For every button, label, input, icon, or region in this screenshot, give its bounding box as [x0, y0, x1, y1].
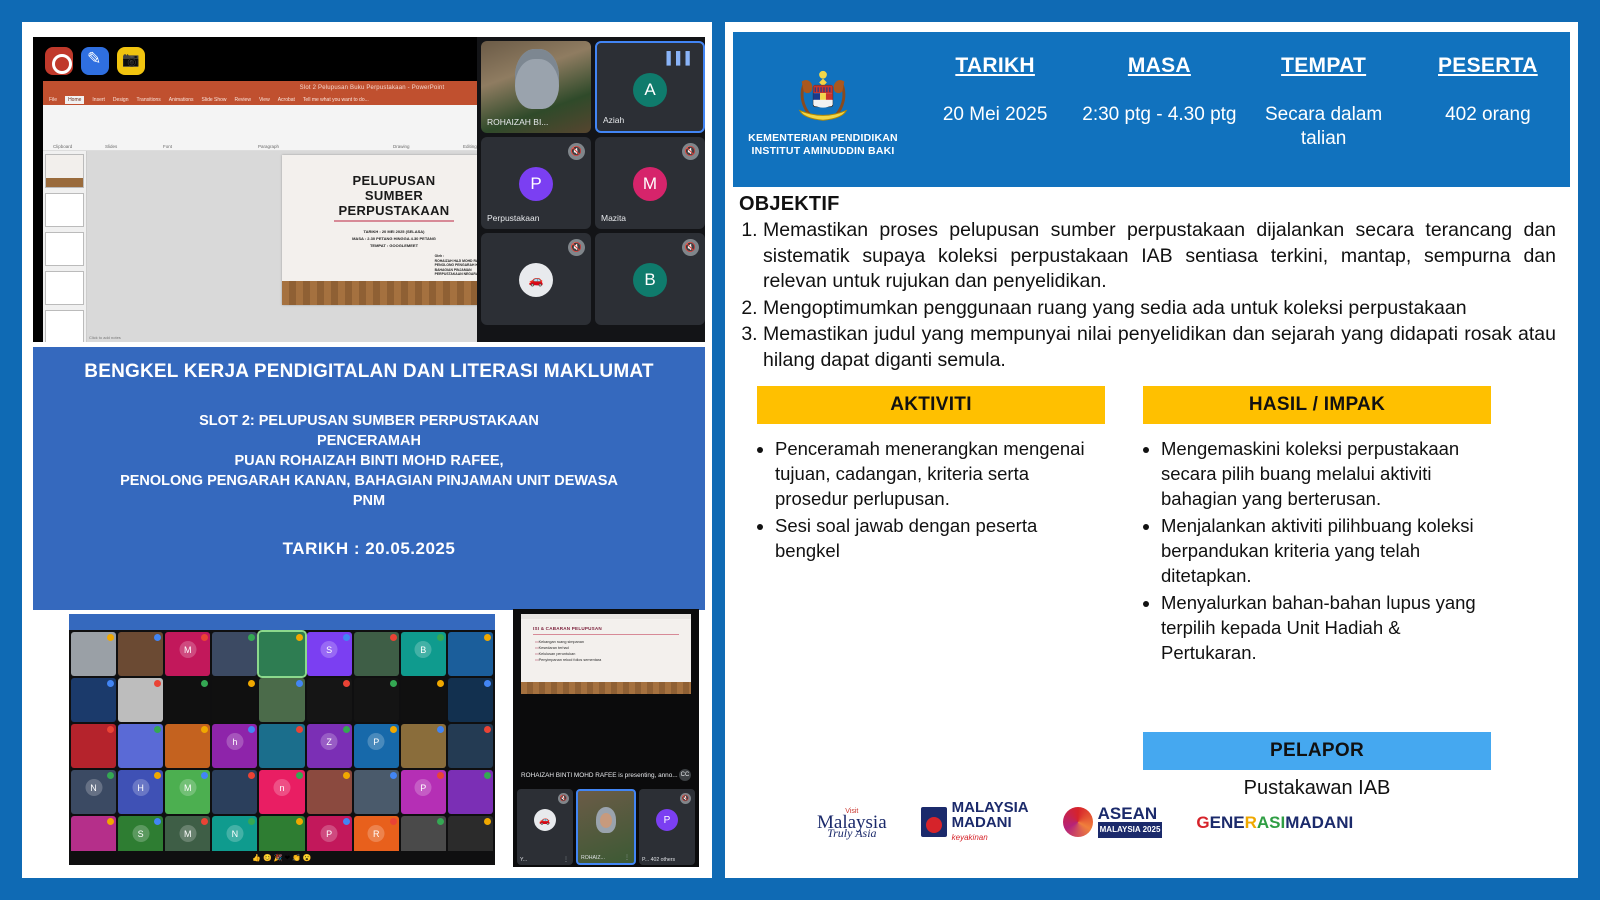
slide-thumbnail[interactable]: 4: [45, 271, 84, 305]
mic-status-icon: [248, 818, 255, 825]
mic-off-icon: 🔇: [682, 239, 699, 256]
participant-tile[interactable]: H: [118, 770, 163, 814]
header-col-tarikh: TARIKH 20 Mei 2025: [913, 32, 1077, 187]
reaction-bar: 👍 😊 🎉 ❤ 👏 😮: [69, 851, 495, 865]
current-slide: PELUPUSAN SUMBER PERPUSTAKAAN TARIKH : 2…: [282, 155, 507, 305]
hasil-caption: HASIL / IMPAK: [1143, 386, 1491, 424]
ministry-block: KEMENTERIAN PENDIDIKAN INSTITUT AMINUDDI…: [733, 32, 913, 187]
ribbon-group-font: Font: [163, 144, 172, 149]
mic-status-icon: [437, 818, 444, 825]
avatar: H: [132, 779, 149, 796]
avatar: P: [656, 809, 678, 831]
objektif-section: OBJEKTIF Memastikan proses pelupusan sum…: [725, 187, 1578, 373]
mic-status-icon: [296, 772, 303, 779]
hasil-item: Menyalurkan bahan-bahan lupus yang terpi…: [1161, 590, 1491, 665]
mic-status-icon: [201, 772, 208, 779]
ministry-name: KEMENTERIAN PENDIDIKAN INSTITUT AMINUDDI…: [748, 132, 898, 158]
mic-status-icon: [296, 726, 303, 733]
mic-status-icon: [437, 726, 444, 733]
aktiviti-list: Penceramah menerangkan mengenai tujuan, …: [775, 436, 1105, 563]
mini-tile-label: P... 402 others: [642, 857, 675, 863]
mini-tile-rohaizah[interactable]: ROHAIZ... ⋮: [576, 789, 636, 865]
avatar: [596, 807, 616, 833]
mic-off-icon: 🔇: [558, 793, 569, 804]
participant-tile[interactable]: [354, 632, 399, 676]
participant-tile[interactable]: [448, 632, 493, 676]
malaysia-coat-of-arms-icon: [792, 66, 854, 128]
mic-status-icon: [390, 680, 397, 687]
meet-presenting-screenshot: ISI & CABARAN PELUPUSAN Kekangan ruang s…: [513, 597, 699, 867]
participant-tile[interactable]: [165, 678, 210, 722]
tab-review[interactable]: Review: [235, 97, 251, 103]
slide-thumbnail[interactable]: 3: [45, 232, 84, 266]
participant-tile[interactable]: [448, 724, 493, 768]
shared-slide: ISI & CABARAN PELUPUSAN Kekangan ruang s…: [521, 614, 691, 694]
mic-status-icon: [248, 680, 255, 687]
participant-tile[interactable]: M: [165, 632, 210, 676]
mic-status-icon: [154, 772, 161, 779]
mic-status-icon: [107, 818, 114, 825]
avatar: M: [633, 167, 667, 201]
mic-status-icon: [107, 726, 114, 733]
ribbon-group-paragraph: Paragraph: [258, 144, 279, 149]
mic-status-icon: [484, 772, 491, 779]
mic-status-icon: [343, 726, 350, 733]
avatar: Z: [321, 733, 338, 750]
mic-status-icon: [201, 726, 208, 733]
tab-transitions[interactable]: Transitions: [137, 97, 161, 103]
mic-status-icon: [343, 634, 350, 641]
meet-tile-aziah[interactable]: ▌▌▌ A Aziah: [595, 41, 705, 133]
powerpoint-presentation-screenshot: 📌 🔇 Slot 2 Pelupusan Buku Perpustakaan -…: [33, 37, 705, 342]
participant-tile[interactable]: [448, 678, 493, 722]
slide-title: PELUPUSAN SUMBER PERPUSTAKAAN: [282, 155, 507, 218]
mic-status-icon: [107, 680, 114, 687]
avatar: P: [519, 167, 553, 201]
meet-tile-mazita[interactable]: 🔇 M Mazita: [595, 137, 705, 229]
slide-thumbnail[interactable]: 5: [45, 310, 84, 342]
participant-tile[interactable]: [71, 724, 116, 768]
participant-tile[interactable]: [259, 724, 304, 768]
header-value: 402 orang: [1445, 103, 1531, 127]
participant-grid[interactable]: MSBhZPNHMnPSMNPR: [69, 630, 495, 862]
ribbon-group-editing: Editing: [463, 144, 477, 149]
pelapor-caption: PELAPOR: [1143, 732, 1491, 770]
mic-status-icon: [154, 680, 161, 687]
aktiviti-item: Penceramah menerangkan mengenai tujuan, …: [775, 436, 1105, 511]
avatar: M: [179, 825, 196, 842]
shared-slide-bullets: Kekangan ruang simpananKesedaran terhadK…: [535, 639, 691, 663]
mic-status-icon: [484, 634, 491, 641]
visit-malaysia-2026-logo: Visit Malaysia Truly Asia: [817, 798, 887, 846]
mic-status-icon: [437, 772, 444, 779]
avatar: N: [226, 825, 243, 842]
slide-meta: TARIKH : 20 MEI 2025 (SELASA) MASA : 2.3…: [282, 228, 507, 249]
participant-tile[interactable]: S: [307, 632, 352, 676]
slide-thumbnail[interactable]: 1: [45, 154, 84, 188]
objektif-item: Mengoptimumkan penggunaan ruang yang sed…: [763, 296, 1556, 322]
mic-status-icon: [201, 818, 208, 825]
banner-date: TARIKH : 20.05.2025: [43, 539, 695, 559]
header-col-masa: MASA 2:30 ptg - 4.30 ptg: [1077, 32, 1241, 187]
shared-slide-title: ISI & CABARAN PELUPUSAN: [533, 626, 691, 631]
objektif-item: Memastikan proses pelupusan sumber perpu…: [763, 218, 1556, 295]
meet-tile-label: Aziah: [603, 115, 624, 125]
header-col-tempat: TEMPAT Secara dalam talian: [1242, 32, 1406, 187]
participant-tile[interactable]: [212, 632, 257, 676]
slide-wood-decoration: [282, 281, 507, 305]
avatar: 🚗: [519, 263, 553, 297]
mic-status-icon: [201, 680, 208, 687]
avatar: P: [368, 733, 385, 750]
header-col-peserta: PESERTA 402 orang: [1406, 32, 1570, 187]
participant-tile[interactable]: n: [259, 770, 304, 814]
more-options-icon[interactable]: ⋮: [624, 854, 630, 861]
header-label: TEMPAT: [1281, 54, 1366, 78]
mic-status-icon: [248, 634, 255, 641]
mini-tile-label: Y...: [520, 857, 527, 863]
mic-status-icon: [154, 818, 161, 825]
ribbon-group-slides: Slides: [105, 144, 117, 149]
mic-off-icon: 🔇: [568, 239, 585, 256]
notes-placeholder[interactable]: Click to add notes: [89, 335, 121, 340]
participant-tile[interactable]: [118, 678, 163, 722]
mic-off-icon: 🔇: [680, 793, 691, 804]
mic-status-icon: [343, 772, 350, 779]
participant-tile[interactable]: [71, 632, 116, 676]
participant-tile[interactable]: P: [401, 770, 446, 814]
shared-slide-bullet: Penyimpanan rekod folios sementara: [535, 657, 691, 663]
tab-file[interactable]: File: [49, 97, 57, 103]
avatar: N: [85, 779, 102, 796]
hasil-column: HASIL / IMPAK Mengemaskini koleksi perpu…: [1143, 386, 1491, 667]
participant-tile[interactable]: [307, 770, 352, 814]
present-off-icon[interactable]: [117, 47, 145, 75]
title-underline: [334, 220, 454, 222]
tab-home[interactable]: Home: [65, 96, 84, 104]
reaction-icons: 👍 😊 🎉 ❤ 👏 😮: [252, 854, 311, 862]
participant-tile[interactable]: P: [354, 724, 399, 768]
mic-status-icon: [484, 726, 491, 733]
mic-status-icon: [296, 818, 303, 825]
mic-status-icon: [201, 634, 208, 641]
banner-slot-info: SLOT 2: PELUPUSAN SUMBER PERPUSTAKAAN PE…: [43, 411, 695, 511]
participant-tile[interactable]: [212, 770, 257, 814]
avatar: R: [368, 825, 385, 842]
aktiviti-caption: AKTIVITI: [757, 386, 1105, 424]
mic-status-icon: [154, 726, 161, 733]
participant-tile[interactable]: B: [401, 632, 446, 676]
participant-tile[interactable]: [259, 632, 304, 676]
mic-status-icon: [390, 634, 397, 641]
meet-participant-strip: ROHAIZAH BI... ▌▌▌ A Aziah 🔇 P Perpustak…: [477, 37, 705, 342]
tab-slideshow[interactable]: Slide Show: [202, 97, 227, 103]
mic-status-icon: [437, 680, 444, 687]
slide-divider: [533, 634, 679, 635]
header-value: 20 Mei 2025: [943, 103, 1048, 127]
meet-tile-5[interactable]: 🔇 🚗: [481, 233, 591, 325]
record-icon[interactable]: [45, 47, 73, 75]
pelapor-name: Pustakawan IAB: [1143, 777, 1491, 800]
objektif-list: Memastikan proses pelupusan sumber perpu…: [743, 218, 1556, 373]
header-label: PESERTA: [1438, 54, 1538, 78]
mic-status-icon: [154, 634, 161, 641]
mic-status-icon: [343, 818, 350, 825]
participant-tile[interactable]: [448, 770, 493, 814]
tell-me-box[interactable]: Tell me what you want to do...: [303, 97, 369, 103]
avatar: A: [633, 73, 667, 107]
header-value: 2:30 ptg - 4.30 ptg: [1082, 103, 1236, 127]
report-panel: KEMENTERIAN PENDIDIKAN INSTITUT AMINUDDI…: [725, 22, 1578, 878]
avatar: S: [321, 641, 338, 658]
aktiviti-item: Sesi soal jawab dengan peserta bengkel: [775, 513, 1105, 563]
mic-status-icon: [390, 726, 397, 733]
meet-tile-rohaizah[interactable]: ROHAIZAH BI...: [481, 41, 591, 133]
participant-tile[interactable]: [401, 678, 446, 722]
avatar: [525, 63, 549, 91]
objektif-title: OBJEKTIF: [739, 193, 1556, 216]
header-info-columns: TARIKH 20 Mei 2025 MASA 2:30 ptg - 4.30 …: [913, 32, 1570, 187]
mic-status-icon: [484, 818, 491, 825]
mini-top-strip: [513, 597, 699, 609]
presenting-status: ROHAIZAH BINTI MOHD RAFEE is presenting,…: [513, 772, 699, 779]
tab-acrobat[interactable]: Acrobat: [278, 97, 295, 103]
avatar: P: [415, 779, 432, 796]
tab-design[interactable]: Design: [113, 97, 129, 103]
slide-wood-decoration: [521, 682, 691, 694]
hasil-item: Menjalankan aktiviti pilihbuang koleksi …: [1161, 513, 1491, 588]
participant-tile[interactable]: [259, 678, 304, 722]
mic-status-icon: [248, 772, 255, 779]
mini-tile-1[interactable]: 🔇 🚗 Y... ⋮: [517, 789, 573, 865]
logo-strip: Visit Malaysia Truly Asia MALAYSIA MADAN…: [817, 798, 1353, 846]
ribbon-group-clipboard: Clipboard: [53, 144, 72, 149]
asean-malaysia-2025-logo: ASEAN MALAYSIA 2025: [1063, 798, 1163, 846]
more-options-icon[interactable]: ⋮: [563, 856, 569, 863]
avatar: M: [179, 779, 196, 796]
participant-tile[interactable]: [307, 678, 352, 722]
madani-mark-icon: [921, 807, 947, 837]
participant-tile[interactable]: h: [212, 724, 257, 768]
slide-titlebar: [521, 614, 691, 619]
slide-thumbnail[interactable]: 2: [45, 193, 84, 227]
mic-status-icon: [248, 726, 255, 733]
ribbon-group-drawing: Drawing: [393, 144, 410, 149]
slide-thumbnail-pane[interactable]: 1 2 3 4 5: [43, 151, 87, 342]
presenting-label: ROHAIZAH BINTI MOHD RAFEE is presenting,…: [521, 772, 678, 779]
tab-view[interactable]: View: [259, 97, 270, 103]
avatar: B: [415, 641, 432, 658]
participant-tile[interactable]: [118, 632, 163, 676]
mic-status-icon: [296, 680, 303, 687]
avatar: h: [226, 733, 243, 750]
avatar: P: [321, 825, 338, 842]
mic-status-icon: [343, 680, 350, 687]
participant-tile[interactable]: [165, 724, 210, 768]
banner-title: BENGKEL KERJA PENDIGITALAN DAN LITERASI …: [43, 359, 695, 385]
tab-insert[interactable]: Insert: [92, 97, 105, 103]
mic-status-icon: [484, 680, 491, 687]
meet-grid-screenshot: MSBhZPNHMnPSMNPR 👍 😊 🎉 ❤ 👏 😮: [69, 614, 495, 865]
aktiviti-column: AKTIVITI Penceramah menerangkan mengenai…: [757, 386, 1105, 667]
grid-top-strip: [69, 614, 495, 630]
report-header: KEMENTERIAN PENDIDIKAN INSTITUT AMINUDDI…: [733, 32, 1570, 187]
mic-off-icon: 🔇: [682, 143, 699, 160]
malaysia-madani-logo: MALAYSIA MADANI keyakinan: [921, 798, 1029, 846]
hasil-list: Mengemaskini koleksi perpustakaan secara…: [1161, 436, 1491, 665]
meet-tile-label: Mazita: [601, 213, 626, 223]
participant-tile[interactable]: Z: [307, 724, 352, 768]
participant-tile[interactable]: [212, 678, 257, 722]
hasil-item: Mengemaskini koleksi perpustakaan secara…: [1161, 436, 1491, 511]
workshop-banner: BENGKEL KERJA PENDIGITALAN DAN LITERASI …: [33, 347, 705, 610]
audio-level-icon: ▌▌▌: [666, 51, 695, 65]
header-label: MASA: [1128, 54, 1191, 78]
header-label: TARIKH: [955, 54, 1035, 78]
meet-tile-label: ROHAIZAH BI...: [487, 117, 548, 127]
mini-tile-3[interactable]: 🔇 P P... 402 others: [639, 789, 695, 865]
poster-root: 📌 🔇 Slot 2 Pelupusan Buku Perpustakaan -…: [0, 0, 1600, 900]
activity-outcome-columns: AKTIVITI Penceramah menerangkan mengenai…: [725, 374, 1578, 667]
avatar: B: [633, 263, 667, 297]
header-value: Secara dalam talian: [1242, 103, 1406, 151]
pelapor-section: PELAPOR Pustakawan IAB: [1143, 732, 1491, 800]
mini-tile-label: ROHAIZ...: [581, 855, 605, 861]
avatar: S: [132, 825, 149, 842]
participant-tile[interactable]: [71, 678, 116, 722]
mic-off-icon: 🔇: [568, 143, 585, 160]
meet-tile-perpustakaan[interactable]: 🔇 P Perpustakaan: [481, 137, 591, 229]
asean-spiral-icon: [1063, 807, 1093, 837]
participant-tile[interactable]: M: [165, 770, 210, 814]
mic-status-icon: [296, 634, 303, 641]
meet-tile-label: Perpustakaan: [487, 213, 539, 223]
participant-tile[interactable]: [354, 678, 399, 722]
pencil-icon[interactable]: [81, 47, 109, 75]
mic-status-icon: [107, 772, 114, 779]
closed-caption-icon[interactable]: CC: [679, 769, 691, 781]
generasi-madani-logo: GENERASI MADANI: [1196, 798, 1353, 846]
meet-tile-6[interactable]: 🔇 B: [595, 233, 705, 325]
objektif-item: Memastikan judul yang mempunyai nilai pe…: [763, 322, 1556, 373]
mic-status-icon: [437, 634, 444, 641]
participant-tile[interactable]: [401, 724, 446, 768]
mini-participant-strip: 🔇 🚗 Y... ⋮ ROHAIZ... ⋮ 🔇 P P... 402 othe…: [513, 789, 699, 867]
left-photo-collage: 📌 🔇 Slot 2 Pelupusan Buku Perpustakaan -…: [22, 22, 712, 878]
avatar: 🚗: [534, 809, 556, 831]
tab-animations[interactable]: Animations: [169, 97, 194, 103]
avatar: n: [273, 779, 290, 796]
avatar: M: [179, 641, 196, 658]
mic-status-icon: [107, 634, 114, 641]
participant-tile[interactable]: [118, 724, 163, 768]
participant-tile[interactable]: N: [71, 770, 116, 814]
mic-status-icon: [390, 818, 397, 825]
mic-status-icon: [390, 772, 397, 779]
participant-tile[interactable]: [354, 770, 399, 814]
